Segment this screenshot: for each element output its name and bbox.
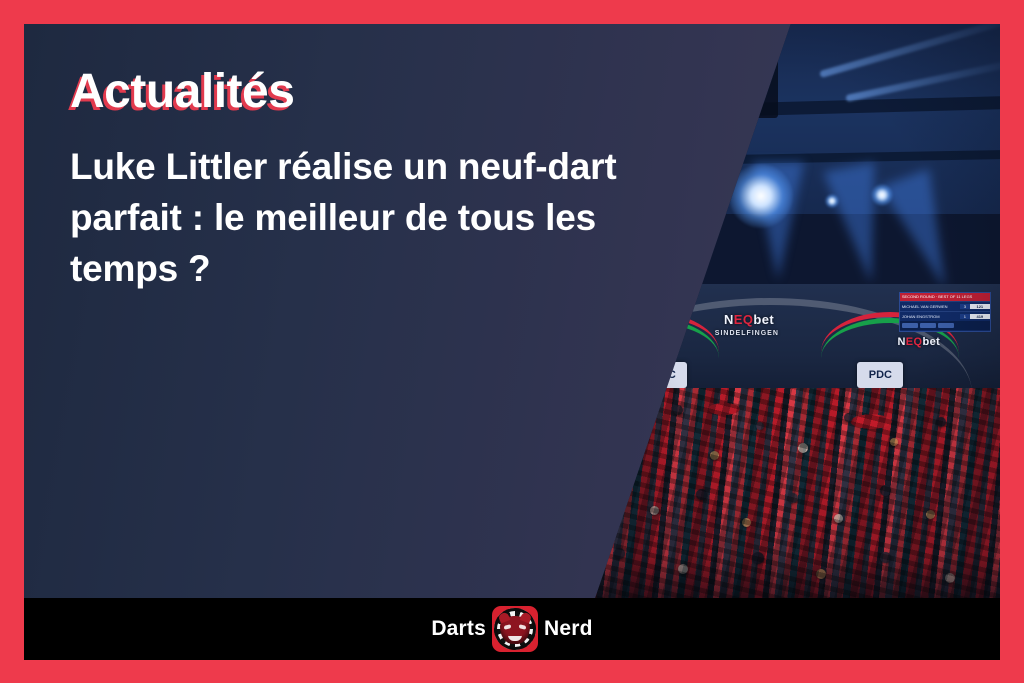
crowd-head: [614, 548, 625, 559]
scoreboard-right-legs-2: 1: [960, 314, 970, 319]
crowd-head: [710, 451, 719, 460]
center-spotlight: [729, 164, 793, 228]
mask-eye-left: [504, 624, 511, 629]
arena-crowd: [540, 388, 1000, 598]
scoreboard-right-score-1: 121: [970, 304, 990, 309]
crowd-head: [577, 413, 586, 422]
scoreboard-left-score-1: 121: [620, 304, 640, 309]
scoreboard-left-row-2: JOHAN ENGSTROM 1 419: [550, 311, 640, 321]
brand-footer: Darts Nerd: [24, 598, 1000, 660]
page-title: Luke Littler réalise un neuf-dart parfai…: [70, 141, 670, 294]
crowd-head: [673, 405, 683, 415]
crowd-head: [926, 510, 935, 519]
stage-sponsor-center-eq: EQ: [734, 312, 754, 327]
darts-nerd-logo-icon: [492, 606, 538, 652]
stage-sponsor-left-eq: EQ: [613, 336, 630, 348]
crowd-head: [756, 422, 764, 430]
crowd-head: [936, 417, 946, 427]
sponsor-chip: [902, 323, 918, 328]
crowd-head: [696, 489, 707, 500]
stage-sponsor-right: NEQbet: [897, 336, 940, 348]
stage-sponsor-right-n: N: [897, 336, 905, 348]
crowd-head: [844, 413, 853, 422]
brand-word-nerd: Nerd: [544, 617, 593, 641]
sponsor-chip: [570, 323, 586, 328]
pdc-badge-right: PDC: [857, 362, 903, 388]
stage-sponsor-left-bet: bet: [629, 336, 647, 348]
stage-sponsor-right-bet: bet: [923, 336, 941, 348]
scoreboard-left-player-2: JOHAN ENGSTROM: [550, 314, 610, 319]
crowd-head: [742, 518, 751, 527]
hanging-speaker-array: [742, 44, 778, 118]
brand-word-darts: Darts: [431, 617, 486, 641]
pdc-badge-left: PDC: [641, 362, 687, 388]
stage-sponsor-center: NEQbet: [724, 312, 774, 327]
stage-sponsor-right-eq: EQ: [906, 336, 923, 348]
sponsor-chip: [588, 323, 604, 328]
crowd-head: [834, 514, 843, 523]
sponsor-chip: [552, 323, 568, 328]
scoreboard-right-score-2: 419: [970, 314, 990, 319]
sponsor-chip: [920, 323, 936, 328]
stage-sponsor-left-n: N: [604, 336, 612, 348]
crowd-heads: [540, 388, 1000, 598]
spotlight-left-2: [692, 194, 706, 208]
samurai-mask-icon: [500, 616, 530, 644]
stage-sponsor-center-bet: bet: [753, 312, 774, 327]
scoreboard-right-sponsor-strip: [900, 321, 990, 330]
scoreboard-left-sponsor-strip: [550, 321, 640, 330]
stage-backdrop: NEQbet SINDELFINGEN NEQbet NEQbet PDC PD…: [540, 284, 1000, 402]
scoreboard-right-player-2: JOHAN ENGSTROM: [900, 314, 960, 319]
scoreboard-left-score-2: 419: [620, 314, 640, 319]
category-kicker: Actualités: [70, 64, 294, 119]
scoreboard-right-row-1: MICHAEL VAN GERWEN 3 121: [900, 301, 990, 311]
scoreboard-right-row-2: JOHAN ENGSTROM 1 419: [900, 311, 990, 321]
stage-event-label: SINDELFINGEN: [715, 330, 779, 337]
crowd-head: [650, 506, 659, 515]
scoreboard-right-header: SECOND ROUND · BEST OF 11 LEGS: [900, 293, 990, 301]
stage-sponsor-center-n: N: [724, 312, 734, 327]
crowd-head: [880, 552, 891, 563]
stage-sponsor-left: NEQbet: [604, 336, 647, 348]
crowd-head: [945, 573, 955, 583]
scoreboard-right-legs-1: 3: [960, 304, 970, 309]
crowd-head: [816, 569, 826, 579]
content-card: NEQbet SINDELFINGEN NEQbet NEQbet PDC PD…: [24, 24, 1000, 598]
crowd-head: [623, 434, 631, 442]
scoreboard-right: SECOND ROUND · BEST OF 11 LEGS MICHAEL V…: [899, 292, 991, 332]
scoreboard-right-player-1: MICHAEL VAN GERWEN: [900, 304, 960, 309]
crowd-head: [880, 485, 891, 496]
crowd-head: [890, 438, 898, 446]
crowd-head: [595, 480, 605, 490]
scoreboard-left-header: SECOND ROUND · BEST OF 11 LEGS: [550, 293, 640, 301]
scoreboard-left-row-1: MICHAEL VAN GERWEN 3 121: [550, 301, 640, 311]
crowd-floor-shadow: [540, 554, 1000, 598]
crowd-head: [798, 443, 808, 453]
scoreboard-left-legs-2: 1: [610, 314, 620, 319]
article-text-block: Actualités Luke Littler réalise un neuf-…: [70, 64, 670, 294]
scoreboard-left-player-1: MICHAEL VAN GERWEN: [550, 304, 610, 309]
scoreboard-left: SECOND ROUND · BEST OF 11 LEGS MICHAEL V…: [549, 292, 641, 332]
mask-mouth: [508, 634, 522, 641]
sponsor-chip: [938, 323, 954, 328]
crowd-head: [788, 493, 798, 503]
mask-eye-right: [519, 624, 526, 629]
scoreboard-left-legs-1: 3: [610, 304, 620, 309]
crowd-head: [678, 564, 688, 574]
poster-frame: NEQbet SINDELFINGEN NEQbet NEQbet PDC PD…: [0, 0, 1024, 683]
crowd-head: [752, 552, 764, 564]
